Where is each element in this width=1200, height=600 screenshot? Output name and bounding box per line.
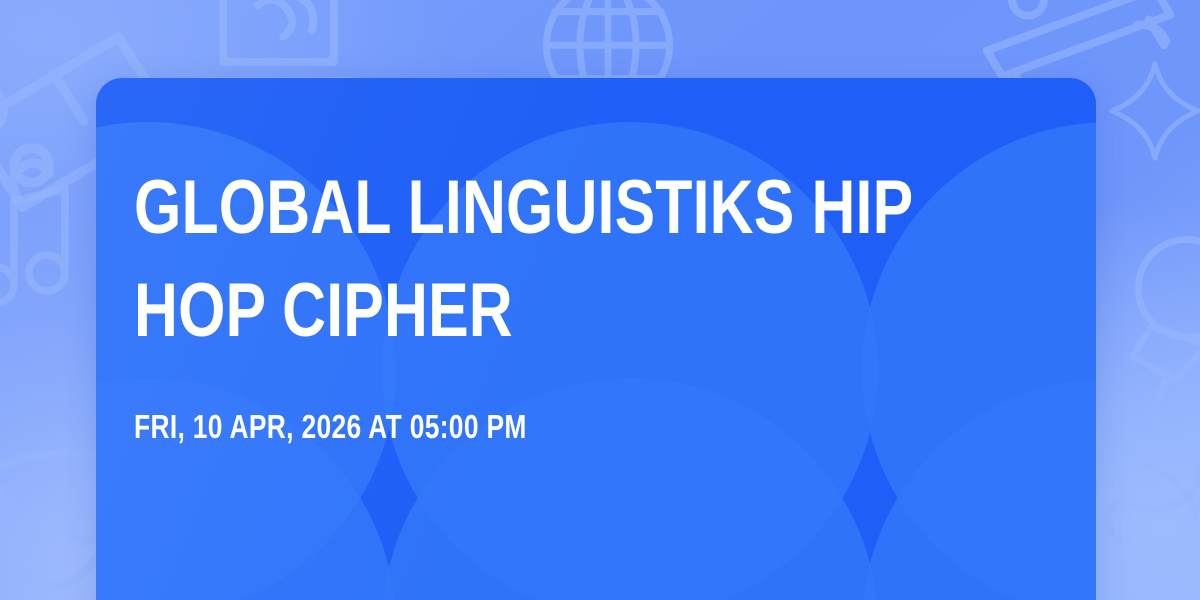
- event-title: Global Linguistiks Hip Hop Cipher: [134, 156, 1034, 362]
- event-card[interactable]: Global Linguistiks Hip Hop Cipher Fri, 1…: [96, 78, 1096, 600]
- event-date-time: Fri, 10 Apr, 2026 at 05:00 PM: [134, 408, 1034, 446]
- event-card-content: Global Linguistiks Hip Hop Cipher Fri, 1…: [96, 78, 1096, 446]
